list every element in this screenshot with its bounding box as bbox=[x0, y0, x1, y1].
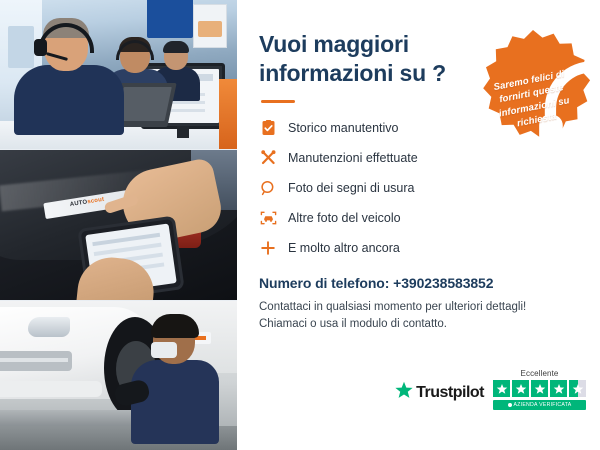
list-item: E molto altro ancora bbox=[259, 237, 578, 259]
star-filled bbox=[550, 380, 567, 397]
trustpilot-wordmark: Trustpilot bbox=[416, 384, 484, 402]
contact-description: Contattaci in qualsiasi momento per ulte… bbox=[259, 299, 578, 335]
wall-banner bbox=[147, 0, 193, 38]
orange-shelf-strip bbox=[219, 79, 237, 149]
headset-earcup bbox=[34, 39, 47, 56]
car-headlight bbox=[28, 317, 70, 337]
list-item: Altre foto del veicolo bbox=[259, 207, 578, 229]
mechanic-person bbox=[131, 318, 219, 444]
list-item: Foto dei segni di usura bbox=[259, 177, 578, 199]
verified-badge: AZIENDA VERIFICATA bbox=[493, 400, 586, 410]
plus-icon bbox=[259, 239, 277, 257]
agent-foreground bbox=[14, 21, 124, 131]
clipboard-check-icon bbox=[259, 119, 277, 137]
star-filled bbox=[493, 380, 510, 397]
promo-banner: AUTOscout bbox=[0, 0, 600, 450]
verified-check-icon bbox=[508, 403, 512, 407]
vehicle-inspection-tablet-photo: AUTOscout bbox=[0, 150, 237, 300]
phone-label: Numero di telefono: bbox=[259, 275, 389, 291]
list-item-label: Storico manutentivo bbox=[288, 121, 398, 135]
monitor-stand bbox=[177, 126, 189, 138]
tools-cross-icon bbox=[259, 149, 277, 167]
title-divider bbox=[261, 100, 295, 103]
list-item: Manutenzioni effettuate bbox=[259, 147, 578, 169]
mechanic-wheel-inspection-photo bbox=[0, 301, 237, 450]
trustpilot-rating: Eccellente bbox=[493, 369, 586, 410]
wall-poster bbox=[193, 4, 227, 48]
verified-label: AZIENDA VERIFICATA bbox=[514, 402, 572, 408]
trustpilot-widget[interactable]: Trustpilot Eccellente bbox=[395, 369, 586, 410]
list-item-label: Altre foto del veicolo bbox=[288, 211, 401, 225]
star-filled bbox=[512, 380, 529, 397]
contact-line-1: Contattaci in qualsiasi momento per ulte… bbox=[259, 299, 578, 317]
list-item-label: E molto altro ancora bbox=[288, 241, 400, 255]
car-bumper bbox=[0, 381, 102, 397]
star-half bbox=[569, 380, 586, 397]
phone-line: Numero di telefono: +390238583852 bbox=[259, 275, 578, 291]
list-item-label: Foto dei segni di usura bbox=[288, 181, 414, 195]
contact-line-2: Chiamaci o usa il modulo di contatto. bbox=[259, 316, 578, 334]
trustpilot-logo: Trustpilot bbox=[395, 381, 484, 410]
rating-label: Eccellente bbox=[493, 369, 586, 378]
car-frame-icon bbox=[259, 209, 277, 227]
list-item-label: Manutenzioni effettuate bbox=[288, 151, 418, 165]
car-grille bbox=[0, 351, 72, 371]
info-panel: Vuoi maggiori informazioni su ? Storico … bbox=[237, 0, 600, 450]
call-center-agents-photo bbox=[0, 0, 237, 150]
star-filled bbox=[531, 380, 548, 397]
magnifier-icon bbox=[259, 179, 277, 197]
star-rating bbox=[493, 380, 586, 397]
sticker-brand: AUTOscout bbox=[69, 197, 104, 208]
phone-number[interactable]: +390238583852 bbox=[393, 275, 493, 291]
photo-column: AUTOscout bbox=[0, 0, 237, 450]
callout-badge: Saremo felici di fornirti queste informa… bbox=[474, 28, 592, 146]
trustpilot-star-icon bbox=[395, 381, 413, 404]
face-mask bbox=[151, 342, 177, 358]
page-title: Vuoi maggiori informazioni su ? bbox=[259, 30, 469, 88]
